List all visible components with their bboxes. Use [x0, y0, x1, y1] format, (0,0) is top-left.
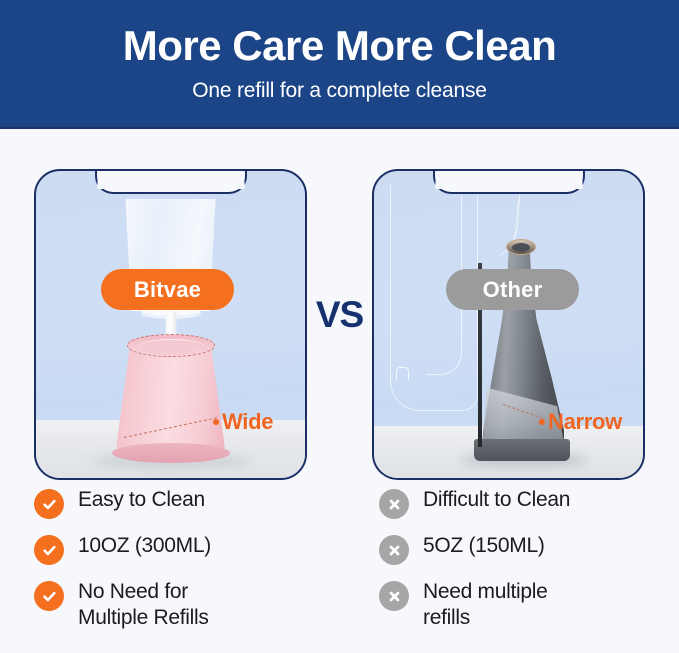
narrow-opening-inner [512, 243, 530, 252]
badge-notch-mask [435, 169, 582, 189]
feature-list-other: Difficult to Clean 5OZ (150ML) Need mult… [379, 487, 679, 645]
callout-wide-label: Wide [222, 409, 273, 435]
check-circle-icon [34, 535, 64, 565]
comparison-infographic: More Care More Clean One refill for a co… [0, 0, 679, 653]
feature-item: Difficult to Clean [379, 487, 679, 519]
page-subtitle: One refill for a complete cleanse [192, 79, 487, 103]
badge-notch-mask [97, 169, 244, 189]
x-circle-icon [379, 535, 409, 565]
feature-list-bitvae: Easy to Clean 10OZ (300ML) No Need for M… [34, 487, 334, 645]
feature-label: Difficult to Clean [423, 487, 570, 513]
feature-label: 5OZ (150ML) [423, 533, 545, 559]
feature-comparison-lists: Easy to Clean 10OZ (300ML) No Need for M… [0, 487, 679, 653]
callout-dot-icon [539, 419, 545, 425]
ghost-hook [396, 367, 409, 380]
check-circle-icon [34, 581, 64, 611]
vs-label: VS [311, 294, 368, 336]
feature-item: Easy to Clean [34, 487, 334, 519]
comparison-section: Bitvae Other Wide Narrow VS [0, 129, 679, 484]
callout-narrow: Narrow [539, 409, 622, 435]
callout-wide: Wide [213, 409, 273, 435]
callout-narrow-label: Narrow [548, 409, 622, 435]
callout-dot-icon [213, 419, 219, 425]
feature-item: Need multiple refills [379, 579, 679, 631]
x-circle-icon [379, 489, 409, 519]
feature-label: 10OZ (300ML) [78, 533, 211, 559]
x-circle-icon [379, 581, 409, 611]
feature-label: Need multiple refills [423, 579, 548, 631]
body-area: Bitvae Other Wide Narrow VS [0, 129, 679, 653]
feature-item: 10OZ (300ML) [34, 533, 334, 565]
tank-base-grey [474, 439, 570, 461]
feature-item: 5OZ (150ML) [379, 533, 679, 565]
feature-item: No Need for Multiple Refills [34, 579, 334, 631]
badge-bitvae-label: Bitvae [134, 277, 201, 303]
header-banner: More Care More Clean One refill for a co… [0, 0, 679, 129]
badge-other-label: Other [483, 277, 543, 303]
badge-bitvae: Bitvae [101, 269, 234, 310]
feature-label: Easy to Clean [78, 487, 205, 513]
wide-opening-inner [137, 339, 205, 355]
tank-foot [112, 443, 230, 463]
feature-label: No Need for Multiple Refills [78, 579, 209, 631]
badge-other: Other [446, 269, 579, 310]
check-circle-icon [34, 489, 64, 519]
page-title: More Care More Clean [123, 24, 556, 68]
